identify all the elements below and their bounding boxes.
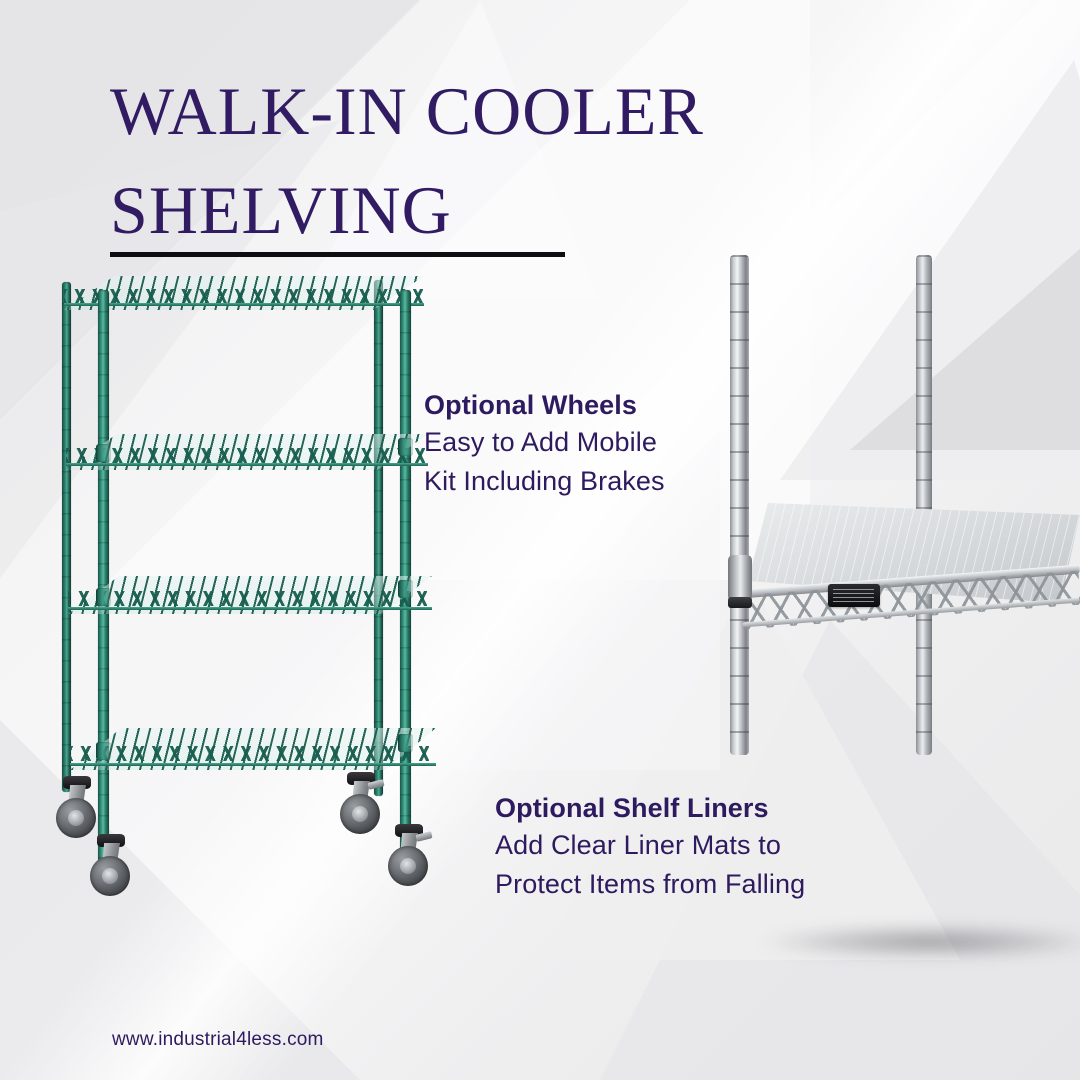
caster-tire (56, 798, 96, 838)
caster-tire (388, 846, 428, 886)
shelf-post-back-left (62, 282, 71, 792)
shelf-front-wire (64, 303, 424, 306)
callout-line-1: Add Clear Liner Mats to (495, 826, 915, 864)
callout-optional-shelf-liners: Optional Shelf Liners Add Clear Liner Ma… (495, 790, 915, 903)
shelf-truss (64, 289, 424, 304)
shelf-collar (398, 580, 413, 598)
callout-optional-wheels: Optional Wheels Easy to Add Mobile Kit I… (424, 387, 754, 500)
website-url[interactable]: www.industrial4less.com (112, 1029, 324, 1051)
page-title-line-1: WALK-IN COOLER (110, 62, 810, 161)
chrome-shelf-collar (728, 555, 752, 601)
chrome-shelf-drop-shadow (760, 925, 1080, 959)
shelf-truss (66, 448, 428, 463)
callout-heading: Optional Wheels (424, 387, 754, 423)
title-underline-rule (110, 252, 565, 257)
shelf-collar (96, 588, 111, 606)
callout-line-1: Easy to Add Mobile (424, 423, 754, 461)
shelf-front-wire (68, 607, 432, 610)
chrome-post-left (730, 255, 749, 755)
callout-heading: Optional Shelf Liners (495, 790, 915, 826)
shelf-tier-2 (66, 434, 428, 470)
shelf-collar (96, 742, 111, 760)
caster-wheel-front-right (386, 824, 432, 886)
caster-wheel-back-left (54, 776, 100, 838)
shelf-collar (398, 438, 413, 456)
chrome-post-right (916, 255, 932, 755)
shelf-front-wire (70, 763, 436, 766)
shelf-tier-bottom (70, 728, 436, 770)
caster-wheel-back-right (338, 772, 384, 834)
callout-line-2: Protect Items from Falling (495, 865, 915, 903)
page-title-line-2: SHELVING (110, 161, 810, 260)
shelf-truss (68, 591, 432, 606)
shelf-collar (398, 734, 413, 752)
chrome-shelf-unit (700, 255, 1080, 775)
caster-wheel-front-left (88, 834, 134, 896)
shelf-truss (70, 746, 436, 761)
chrome-collar-gasket (728, 597, 752, 608)
green-shelving-unit (56, 276, 436, 926)
caster-tire (340, 794, 380, 834)
page-title: WALK-IN COOLER SHELVING (110, 62, 810, 259)
shelf-collar (96, 444, 111, 462)
poster-canvas: WALK-IN COOLER SHELVING (0, 0, 1080, 1080)
callout-line-2: Kit Including Brakes (424, 462, 754, 500)
shelf-post-back-right (374, 280, 383, 796)
shelf-label-tag (828, 584, 880, 607)
shelf-tier-top (64, 276, 424, 310)
caster-tire (90, 856, 130, 896)
shelf-tier-3 (68, 576, 432, 614)
shelf-front-wire (66, 463, 428, 466)
